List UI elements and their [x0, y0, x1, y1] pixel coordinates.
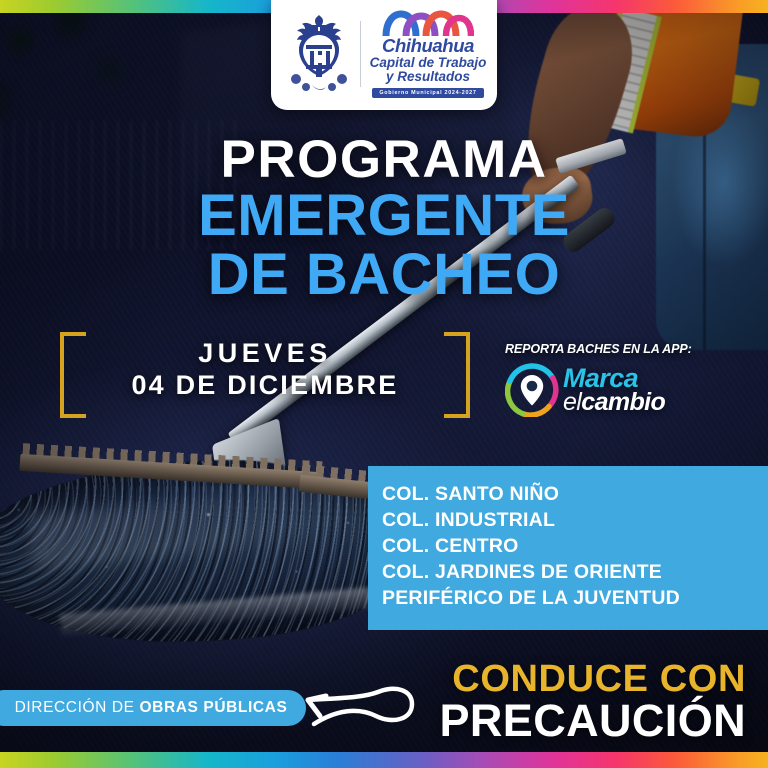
department-badge: DIRECCIÓN DE OBRAS PÚBLICAS	[0, 690, 306, 726]
list-item: COL. JARDINES DE ORIENTE	[382, 560, 768, 586]
app-name-bottom-bold: cambio	[581, 388, 665, 416]
location-pin-icon	[505, 363, 559, 417]
bracket-right-decor	[444, 332, 470, 418]
department-label-bold: OBRAS PÚBLICAS	[140, 699, 288, 716]
curved-arrow-left-icon	[300, 672, 425, 752]
app-wordmark: Marca elcambio	[563, 366, 665, 414]
app-name-bottom-light: el	[563, 388, 581, 416]
chihuahua-arcs-icon	[382, 10, 474, 36]
date-text-group: JUEVES 04 DE DICIEMBRE	[86, 338, 444, 402]
list-item: COL. SANTO NIÑO	[382, 482, 768, 508]
headline-line-3: DE BACHEO	[0, 245, 768, 304]
government-logo-card: Chihuahua Capital de Trabajo y Resultado…	[271, 0, 497, 110]
logo-wordmark: Chihuahua Capital de Trabajo y Resultado…	[370, 10, 487, 98]
brand-tagline: Gobierno Municipal 2024-2027	[372, 88, 483, 98]
brand-line-1: Chihuahua	[382, 37, 474, 56]
app-callout-label: REPORTA BACHES EN LA APP:	[505, 342, 755, 356]
date-weekday: JUEVES	[86, 338, 444, 370]
logo-divider	[360, 21, 361, 87]
bracket-left-decor	[60, 332, 86, 418]
list-item: PERIFÉRICO DE LA JUVENTUD	[382, 586, 768, 612]
department-label-light: DIRECCIÓN DE	[15, 699, 140, 716]
colonies-panel: COL. SANTO NIÑO COL. INDUSTRIAL COL. CEN…	[368, 466, 768, 630]
date-full: 04 DE DICIEMBRE	[86, 370, 444, 402]
caution-message: CONDUCE CON PRECAUCIÓN	[439, 660, 746, 743]
brand-line-3: y Resultados	[386, 70, 470, 85]
bottom-gradient-bar	[0, 752, 768, 768]
brand-line-2: Capital de Trabajo	[370, 56, 487, 71]
app-logo[interactable]: Marca elcambio	[505, 363, 755, 417]
report-app-callout: REPORTA BACHES EN LA APP: Marca elcambio	[505, 342, 755, 417]
department-label: DIRECCIÓN DE OBRAS PÚBLICAS	[15, 699, 288, 717]
event-date: JUEVES 04 DE DICIEMBRE	[60, 332, 470, 418]
caution-line-2: PRECAUCIÓN	[439, 698, 746, 743]
headline-line-2: EMERGENTE	[0, 186, 768, 245]
list-item: COL. CENTRO	[382, 534, 768, 560]
caution-line-1: CONDUCE CON	[439, 660, 746, 698]
chihuahua-coat-of-arms-icon	[282, 13, 356, 95]
headline-line-1: PROGRAMA	[0, 134, 768, 186]
poster-canvas: Chihuahua Capital de Trabajo y Resultado…	[0, 0, 768, 768]
list-item: COL. INDUSTRIAL	[382, 508, 768, 534]
page-title: PROGRAMA EMERGENTE DE BACHEO	[0, 134, 768, 304]
app-name-bottom: elcambio	[563, 391, 665, 414]
